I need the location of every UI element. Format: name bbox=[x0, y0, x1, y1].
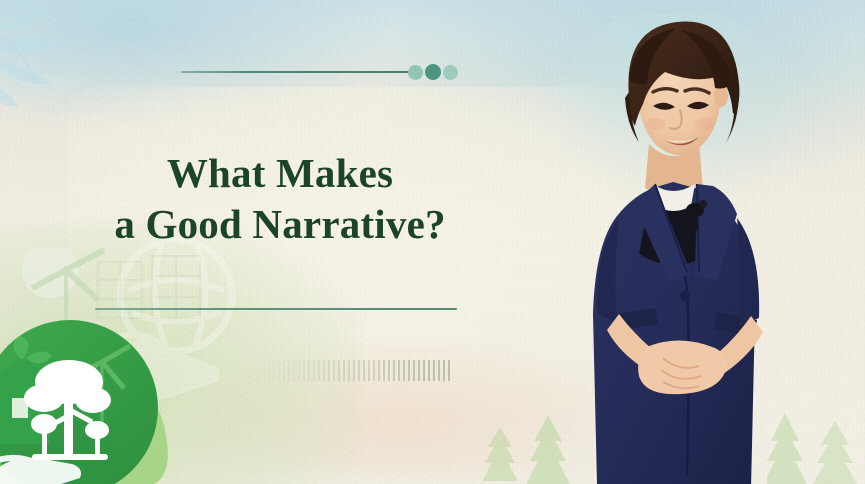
presenter-figure bbox=[545, 14, 820, 484]
barcode-stripes-decoration bbox=[253, 360, 451, 381]
slide-title-line-1: What Makes bbox=[167, 150, 393, 196]
decorative-dot-center bbox=[425, 64, 441, 80]
bamboo-leaves-icon bbox=[0, 0, 132, 106]
decorative-dot-right bbox=[443, 65, 458, 80]
decorative-dot-left bbox=[408, 65, 423, 80]
top-divider-rule bbox=[181, 71, 413, 73]
presentation-slide: What Makes a Good Narrative What Makes a… bbox=[0, 0, 865, 484]
slide-title-line-2: a Good Narrative? bbox=[0, 199, 560, 250]
eco-emblem-illustration bbox=[0, 248, 282, 484]
slide-title: What Makes a Good Narrative? bbox=[0, 148, 560, 251]
